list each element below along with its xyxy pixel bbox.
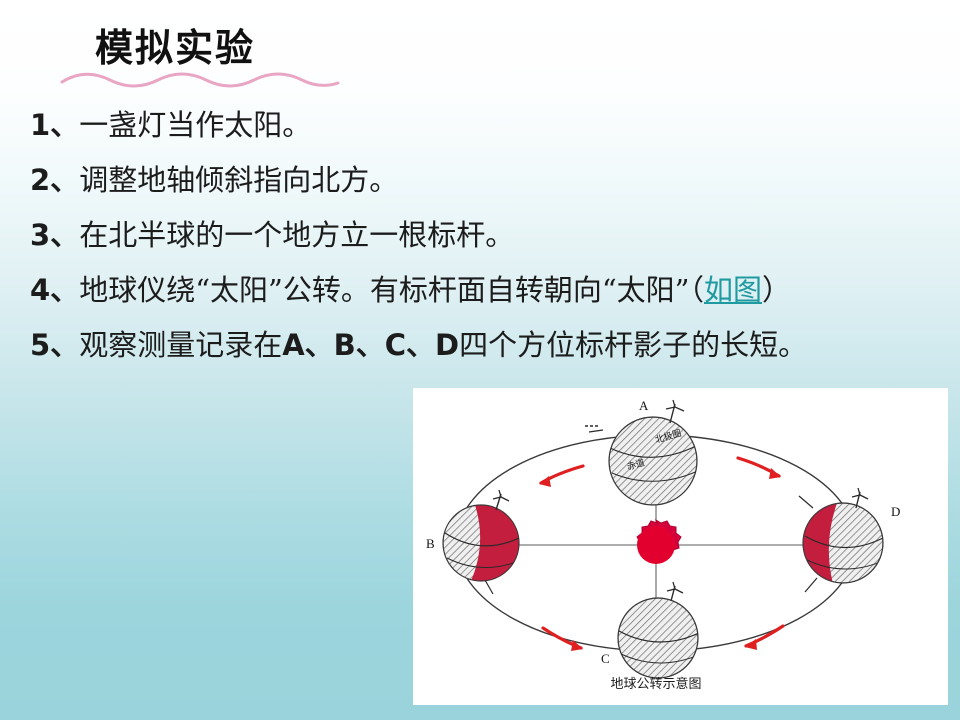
list-item: 2、调整地轴倾斜指向北方。: [30, 153, 960, 208]
diagram-hyperlink[interactable]: 如图: [704, 273, 762, 307]
list-item-text-tail: 四个方位标杆影子的长短。: [459, 328, 807, 362]
list-item-text: 调整地轴倾斜指向北方。: [79, 163, 398, 197]
list-item-number: 1、: [30, 108, 79, 142]
slide-canvas: 模拟实验 1、一盏灯当作太阳。 2、调整地轴倾斜指向北方。 3、在北半球的一个地…: [0, 0, 960, 720]
position-label-c: C: [601, 651, 610, 666]
diagram-caption: 地球公转示意图: [610, 676, 701, 692]
position-label-d: D: [891, 504, 900, 519]
list-item: 1、一盏灯当作太阳。: [30, 98, 960, 153]
title-block: 模拟实验: [95, 24, 515, 94]
list-item-text: 在北半球的一个地方立一根标杆。: [79, 218, 514, 252]
position-label-a: A: [639, 398, 649, 413]
list-item: 4、地球仪绕“太阳”公转。有标杆面自转朝向“太阳”（如图）: [30, 263, 960, 318]
list-item-text: 一盏灯当作太阳。: [79, 108, 311, 142]
title-wave-underline: [60, 68, 340, 92]
list-item-text: 观察测量记录在: [79, 328, 282, 362]
list-item-number: 5、: [30, 328, 79, 362]
steps-list: 1、一盏灯当作太阳。 2、调整地轴倾斜指向北方。 3、在北半球的一个地方立一根标…: [30, 98, 960, 373]
list-item-text: 地球仪绕“太阳”公转。有标杆面自转朝向“太阳”（: [79, 273, 704, 307]
list-item: 3、在北半球的一个地方立一根标杆。: [30, 208, 960, 263]
list-item-number: 4、: [30, 273, 79, 307]
diagram-svg: 北极圈 赤道 A: [413, 388, 948, 705]
list-item-number: 2、: [30, 163, 79, 197]
position-letters: A、B、C、D: [282, 328, 459, 362]
list-item-number: 3、: [30, 218, 79, 252]
list-item: 5、观察测量记录在A、B、C、D四个方位标杆影子的长短。: [30, 318, 960, 373]
position-label-b: B: [426, 536, 435, 551]
list-item-text-tail: ）: [762, 273, 791, 307]
page-title: 模拟实验: [95, 24, 515, 72]
earth-revolution-diagram[interactable]: 北极圈 赤道 A: [413, 388, 948, 705]
